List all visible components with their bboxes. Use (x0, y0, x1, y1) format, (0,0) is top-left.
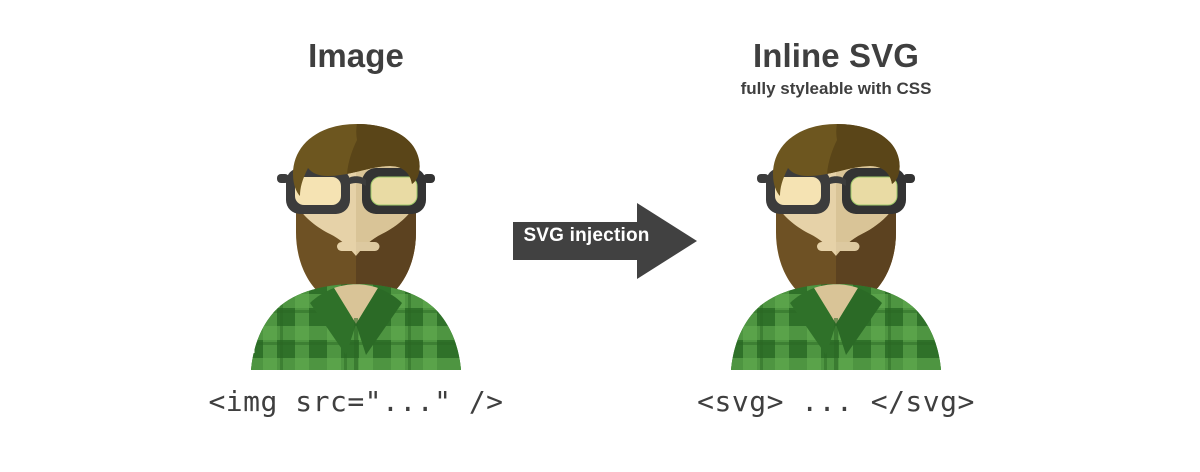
image-panel-code: <img src="..." /> (136, 385, 576, 419)
avatar-inline-svg (731, 112, 941, 370)
svg-panel-subtitle: fully styleable with CSS (616, 78, 1056, 100)
svg-panel-title: Inline SVG (616, 36, 1056, 76)
image-panel-title: Image (136, 36, 576, 76)
avatar-shirt (731, 284, 941, 370)
avatar-image (251, 112, 461, 370)
svg-panel: Inline SVG fully styleable with CSS (616, 0, 1056, 472)
avatar-shirt (251, 284, 461, 370)
diagram-canvas: Image (0, 0, 1200, 472)
svg-panel-code: <svg> ... </svg> (616, 385, 1056, 419)
